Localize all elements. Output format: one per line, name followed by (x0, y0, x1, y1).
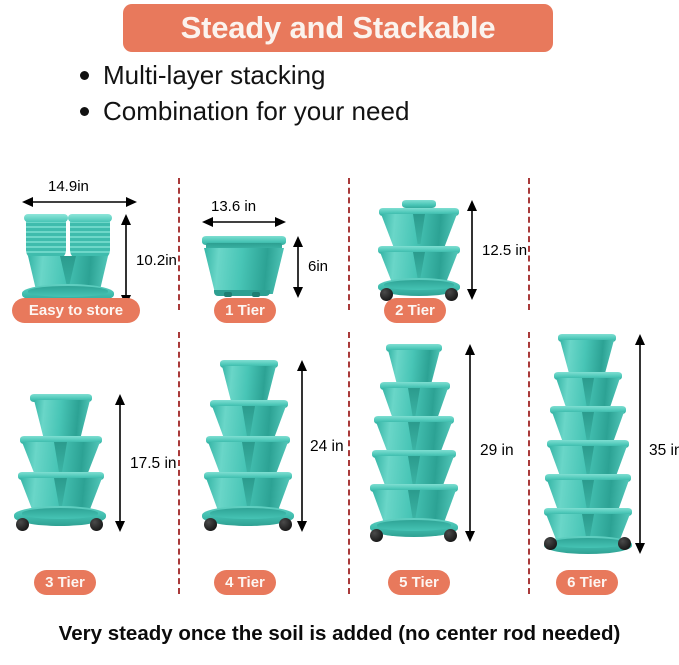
product-illustration-6-tier (544, 334, 632, 554)
height-dimension-label: 10.2in (136, 252, 177, 269)
product-cell-6-tier: 35 in (528, 332, 679, 594)
height-dimension-label: 6in (308, 258, 328, 275)
height-dimension-label: 29 in (480, 442, 514, 460)
product-illustration-2-tier (378, 200, 460, 300)
height-dimension-label: 24 in (310, 438, 344, 456)
height-dimension-label: 17.5 in (130, 455, 177, 473)
product-badge-label: 4 Tier (225, 574, 265, 591)
height-dimension-arrow (466, 200, 478, 300)
caster-wheel-icon (204, 518, 217, 531)
product-badge-label: Easy to store (29, 302, 123, 319)
product-cell-2-tier: 12.5 in 2 Tier (348, 170, 528, 320)
product-illustration-5-tier (370, 344, 458, 542)
product-cell-1-tier: 13.6 in 6in 1 Tier (178, 170, 348, 320)
product-badge-easy-to-store: Easy to store (12, 298, 140, 323)
product-illustration-easy-to-store (22, 214, 117, 310)
infographic-page: Steady and Stackable Multi-layer stackin… (0, 0, 679, 665)
list-item: Multi-layer stacking (80, 60, 409, 96)
bullet-text: Multi-layer stacking (103, 60, 326, 91)
width-dimension-label: 14.9in (48, 178, 89, 195)
caster-wheel-icon (16, 518, 29, 531)
caster-wheel-icon (444, 529, 457, 542)
product-badge-2-tier: 2 Tier (384, 298, 446, 323)
caster-wheel-icon (445, 288, 458, 301)
title-badge: Steady and Stackable (123, 4, 553, 52)
bullet-text: Combination for your need (103, 96, 409, 127)
product-badge-label: 5 Tier (399, 574, 439, 591)
product-badge-1-tier: 1 Tier (214, 298, 276, 323)
product-badge-label: 3 Tier (45, 574, 85, 591)
width-dimension-arrow (22, 196, 137, 208)
caster-wheel-icon (618, 537, 631, 550)
caster-wheel-icon (279, 518, 292, 531)
product-badge-5-tier: 5 Tier (388, 570, 450, 595)
feature-bullet-list: Multi-layer stacking Combination for you… (80, 60, 409, 132)
product-illustration-4-tier (202, 360, 294, 534)
height-dimension-arrow (120, 214, 132, 306)
product-grid: 14.9in 10.2in (0, 170, 679, 610)
product-badge-label: 6 Tier (567, 574, 607, 591)
page-title: Steady and Stackable (181, 10, 496, 46)
product-cell-easy-to-store: 14.9in 10.2in (0, 170, 178, 320)
product-badge-label: 1 Tier (225, 302, 265, 319)
height-dimension-label: 35 in (649, 442, 679, 460)
height-dimension-arrow (464, 344, 476, 542)
product-badge-4-tier: 4 Tier (214, 570, 276, 595)
width-dimension-label: 13.6 in (211, 198, 256, 215)
product-cell-4-tier: 24 in (178, 332, 348, 594)
divider-top-3 (528, 178, 530, 310)
bullet-dot-icon (80, 71, 89, 80)
caster-wheel-icon (90, 518, 103, 531)
product-badge-6-tier: 6 Tier (556, 570, 618, 595)
height-dimension-label: 12.5 in (482, 242, 527, 259)
product-cell-3-tier: 17.5 in 3 Tier (0, 332, 178, 594)
footer-caption-text: Very steady once the soil is added (no c… (59, 622, 621, 645)
height-dimension-arrow (296, 360, 308, 532)
height-dimension-arrow (634, 334, 646, 554)
list-item: Combination for your need (80, 96, 409, 132)
product-illustration-1-tier (202, 236, 286, 298)
footer-caption: Very steady once the soil is added (no c… (0, 622, 679, 646)
height-dimension-arrow (114, 394, 126, 532)
product-cell-5-tier: 29 in (348, 332, 528, 594)
height-dimension-arrow (292, 236, 304, 298)
product-badge-3-tier: 3 Tier (34, 570, 96, 595)
bullet-dot-icon (80, 107, 89, 116)
caster-wheel-icon (544, 537, 557, 550)
width-dimension-arrow (202, 216, 286, 228)
product-illustration-3-tier (14, 394, 106, 534)
caster-wheel-icon (370, 529, 383, 542)
product-badge-label: 2 Tier (395, 302, 435, 319)
